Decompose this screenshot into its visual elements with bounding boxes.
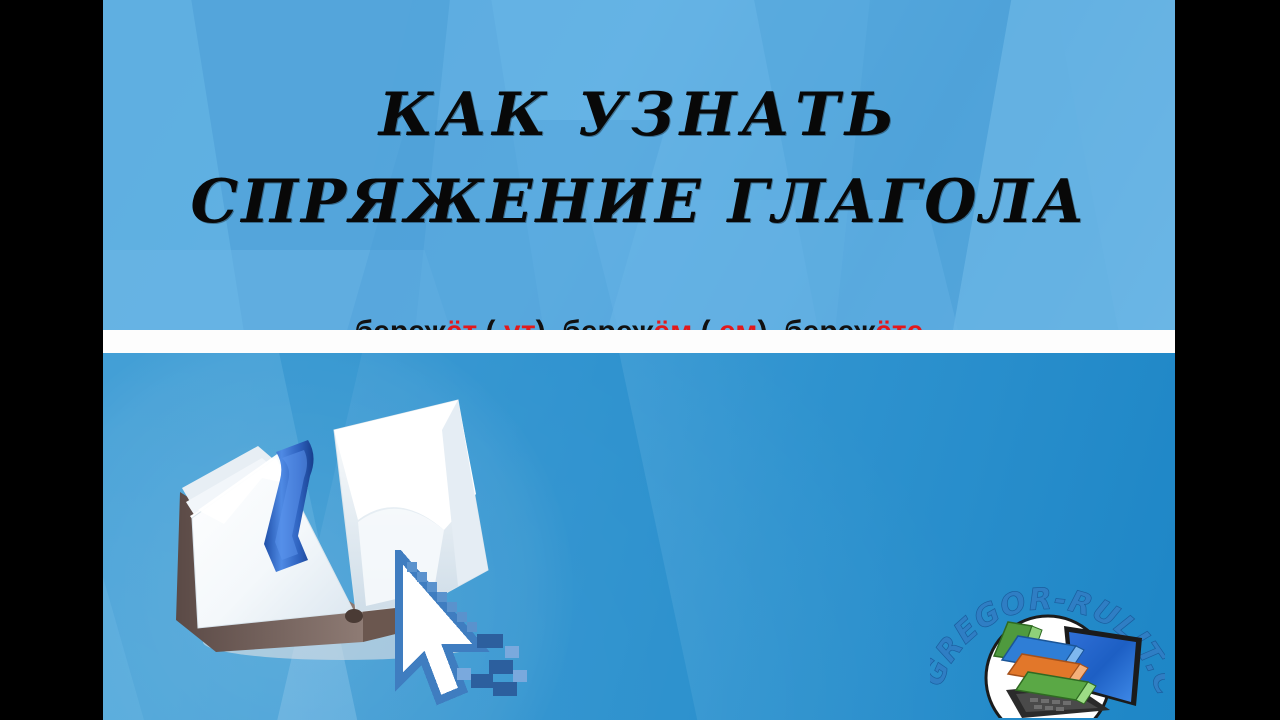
mouse-pointer-icon	[393, 550, 538, 710]
letterbox-bar-right	[1175, 0, 1280, 720]
title-line-1: КАК УЗНАТЬ	[103, 82, 1175, 149]
watermark-logo: GREGOR-RULIT.COM	[930, 560, 1165, 718]
page-title: КАК УЗНАТЬ СПРЯЖЕНИЕ ГЛАГОЛА	[103, 82, 1175, 236]
presentation-slide: бережёт ( ут), бережём ( ем), бережёте К…	[103, 0, 1175, 720]
letterbox-bar-left	[0, 0, 103, 720]
title-line-2: СПРЯЖЕНИЕ ГЛАГОЛА	[103, 169, 1175, 236]
video-frame: бережёт ( ут), бережём ( ем), бережёте К…	[0, 0, 1280, 720]
white-divider-band	[103, 330, 1175, 353]
